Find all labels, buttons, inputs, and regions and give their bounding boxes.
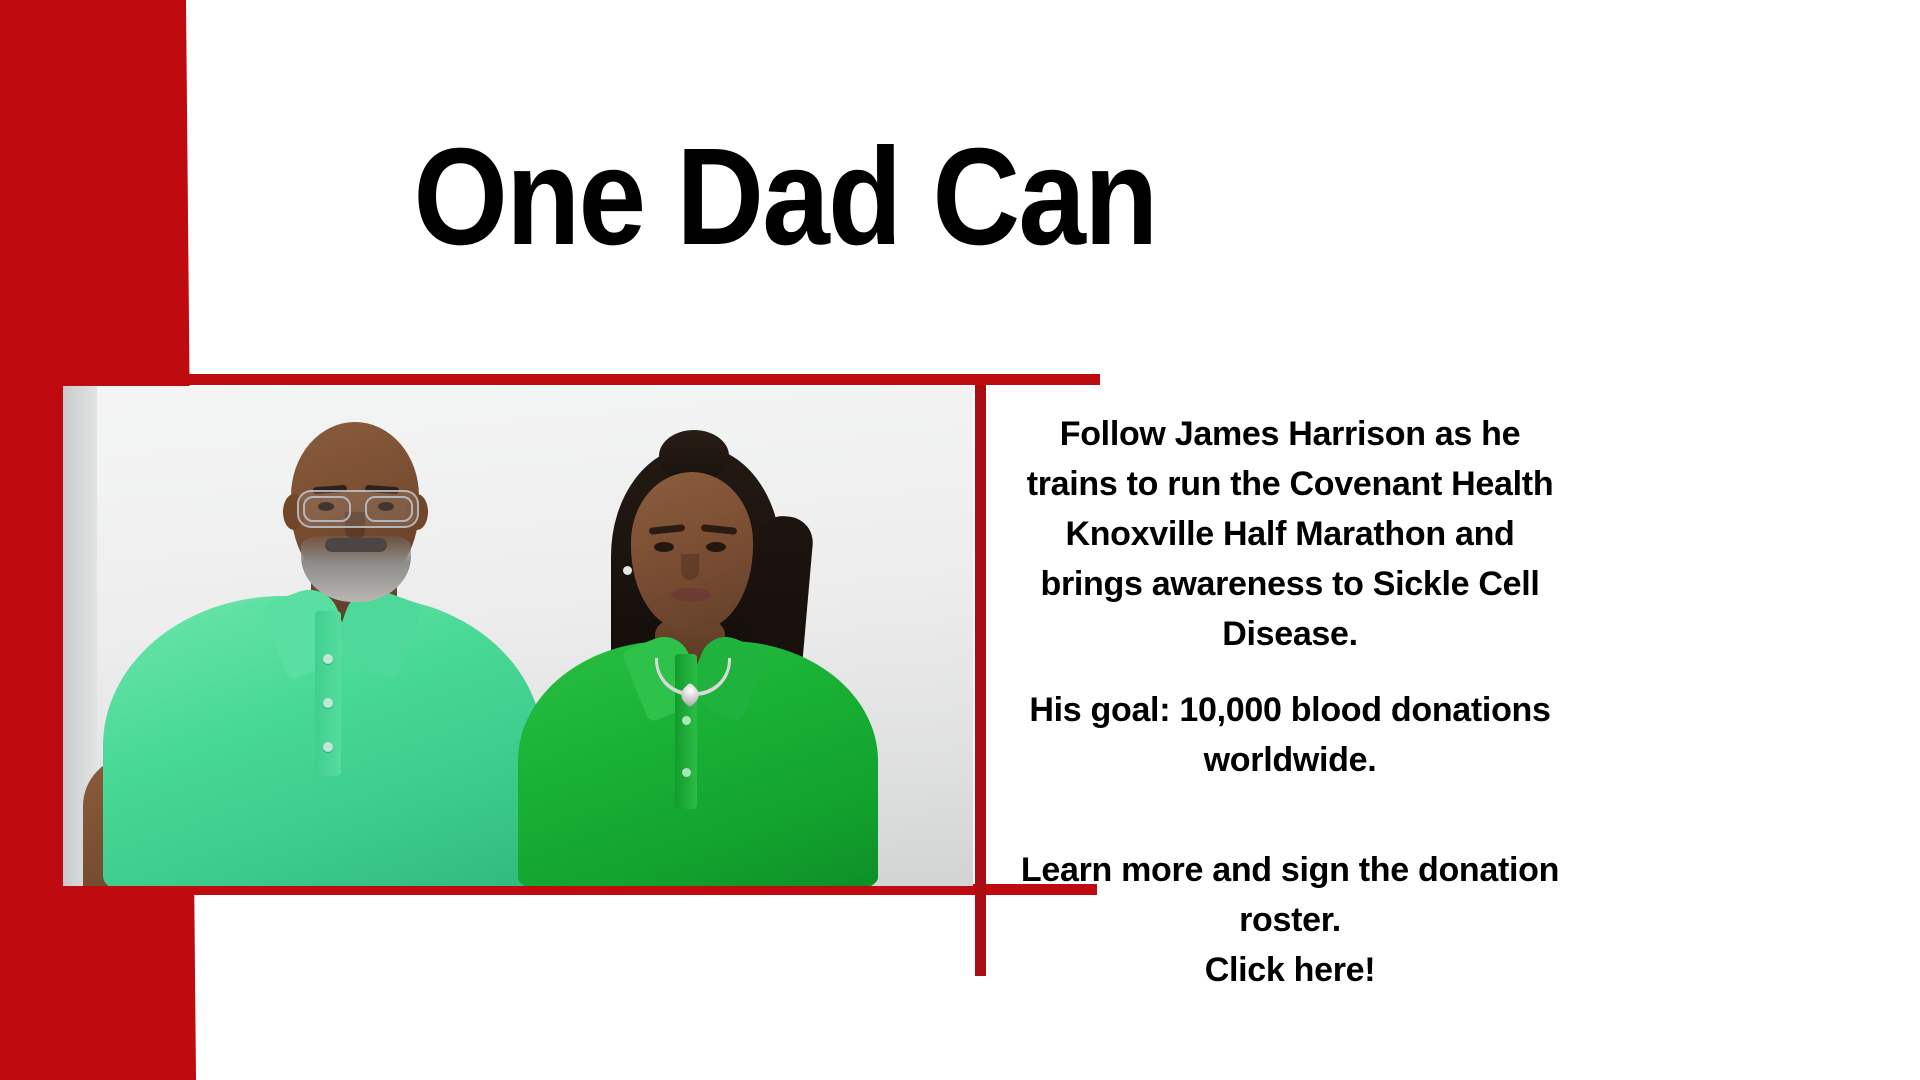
copy-cta-line-1[interactable]: Learn more and sign the donation roster. [1010, 846, 1570, 946]
man-button-1 [323, 654, 333, 664]
copy-spacer-2 [1010, 786, 1570, 846]
promo-copy: Follow James Harrison as he trains to ru… [1010, 410, 1570, 996]
banner-canvas: One Dad Can Follow James Harrison as he … [0, 0, 1920, 1080]
red-vertical-rule-lower [975, 884, 986, 976]
woman-eye-left [654, 542, 674, 552]
hero-photo [63, 386, 973, 886]
red-horizontal-bar-top [0, 374, 1100, 385]
woman-eye-right [706, 542, 726, 552]
red-vertical-rule-upper [975, 385, 986, 885]
woman-lips [671, 588, 711, 602]
copy-cta-line-2[interactable]: Click here! [1010, 946, 1570, 996]
woman-button-2 [682, 768, 691, 777]
copy-paragraph-1: Follow James Harrison as he trains to ru… [1010, 410, 1570, 660]
man-eyeglasses [297, 490, 419, 528]
copy-spacer-1 [1010, 660, 1570, 686]
copy-paragraph-2: His goal: 10,000 blood donations worldwi… [1010, 686, 1570, 786]
man-mustache [325, 538, 387, 552]
page-title: One Dad Can [94, 128, 1476, 266]
woman-nose [681, 554, 699, 580]
woman-earring [623, 566, 632, 575]
man-button-2 [323, 698, 333, 708]
man-button-3 [323, 742, 333, 752]
woman-head [631, 472, 753, 630]
woman-button-1 [682, 716, 691, 725]
